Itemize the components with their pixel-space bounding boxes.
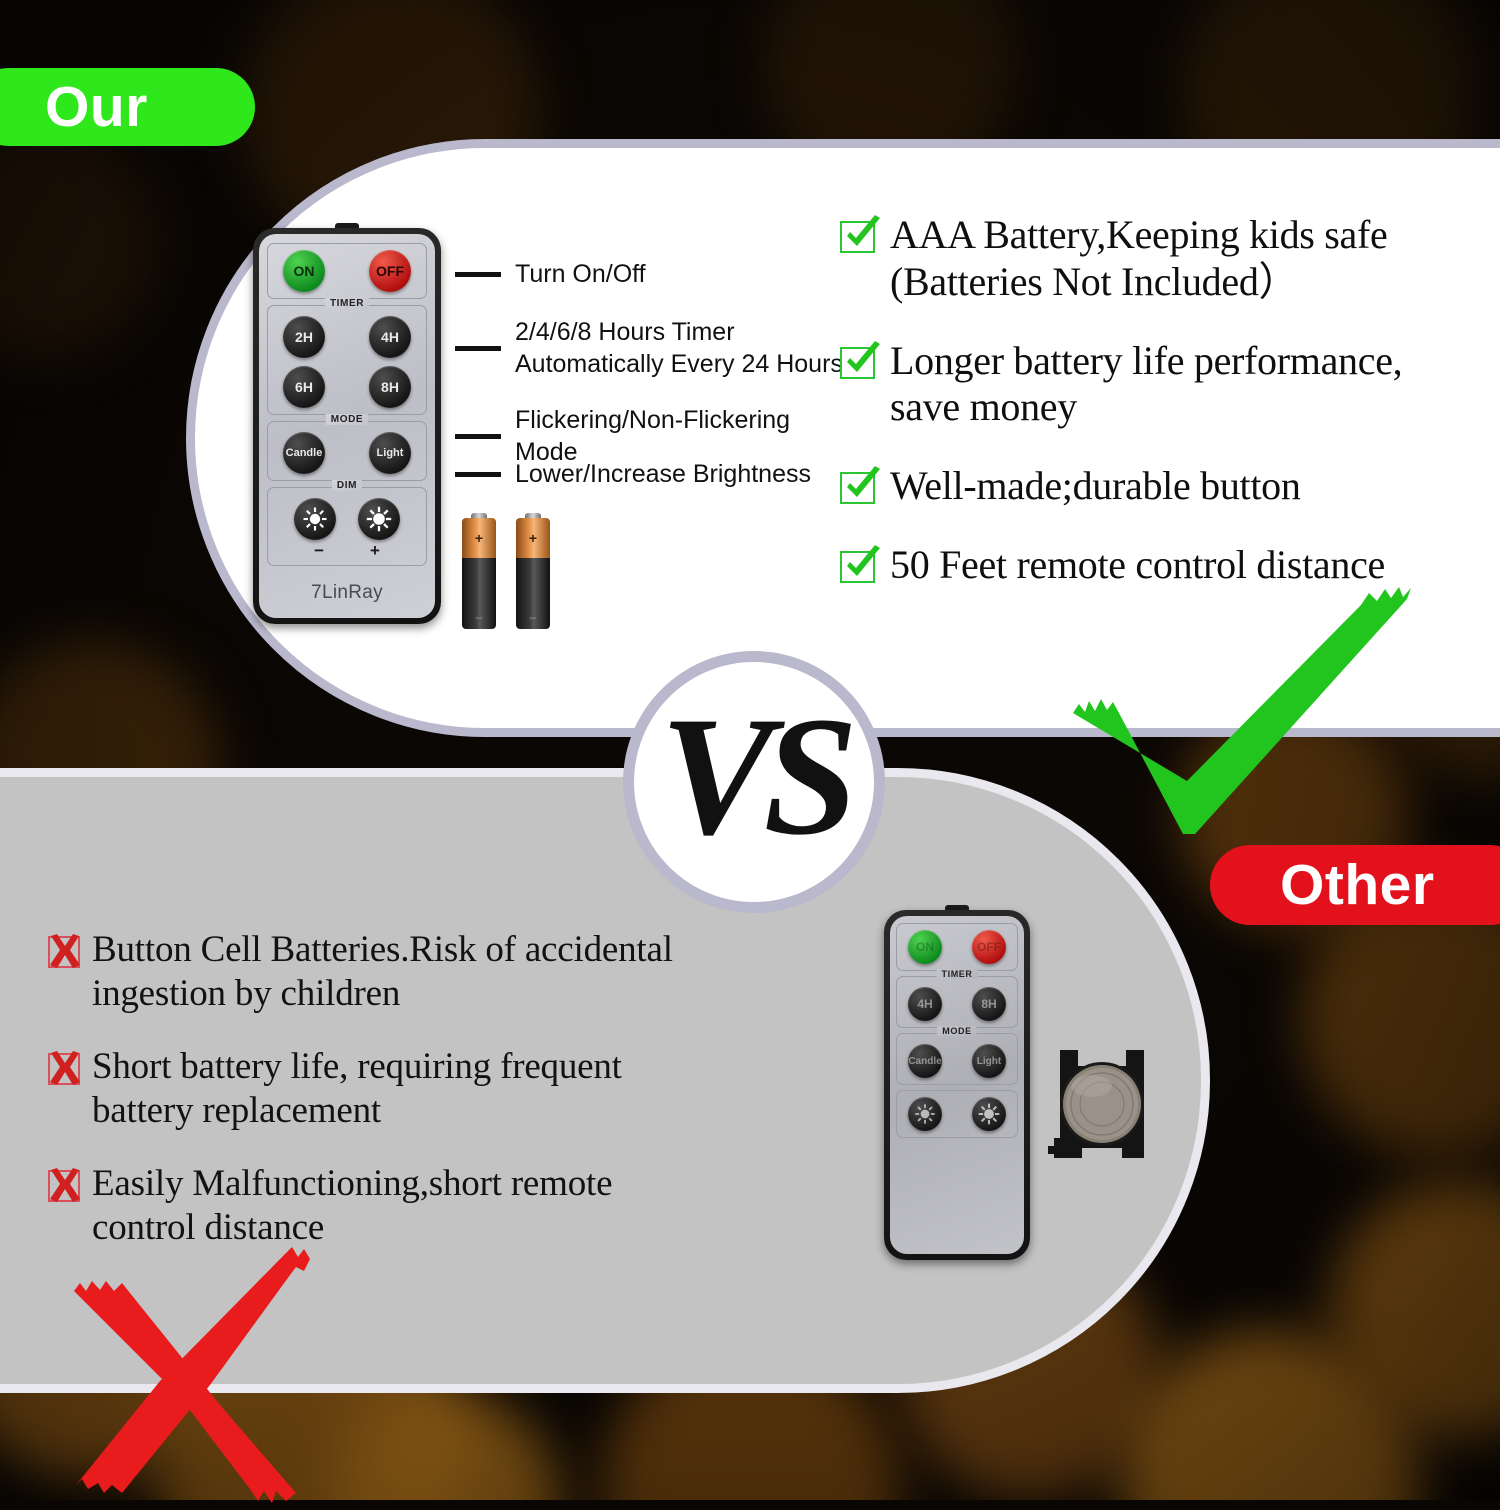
our-remote-control: ON OFF TIMER 2H 4H 6H 8H MODE Candle Lig… <box>253 228 441 624</box>
aaa-battery: + – <box>462 513 496 629</box>
remote-faceplate: ON OFF TIMER 2H 4H 6H 8H MODE Candle Lig… <box>259 234 435 618</box>
off-label: OFF <box>376 263 404 279</box>
con-text: Short battery life, requiring frequent b… <box>92 1045 622 1134</box>
callout-power: Turn On/Off <box>455 258 646 290</box>
candle-mode-button[interactable]: Candle <box>283 432 325 474</box>
timer-8h-button[interactable]: 8H <box>369 366 411 408</box>
leader-line <box>455 272 501 277</box>
remote-brand-label <box>896 1242 1018 1248</box>
light-label: Light <box>977 1056 1001 1067</box>
timer-2h-button[interactable]: 2H <box>283 316 325 358</box>
callout-timer-text: 2/4/6/8 Hours Timer Automatically Every … <box>515 316 843 380</box>
off-label: OFF <box>977 940 1001 954</box>
pro-item: AAA Battery,Keeping kids safe (Batteries… <box>840 212 1500 306</box>
on-label: ON <box>294 263 315 279</box>
on-button[interactable]: ON <box>283 250 325 292</box>
dim-down-button[interactable] <box>908 1097 942 1131</box>
brightness-icon <box>302 506 328 532</box>
cross-icon <box>48 1053 80 1085</box>
checkmark-icon <box>840 548 878 586</box>
pro-item: Longer battery life performance, save mo… <box>840 338 1500 432</box>
timer-4h-label: 4H <box>381 329 399 345</box>
battery-plus-sign: + <box>529 530 537 546</box>
timer-4h-button[interactable]: 4H <box>369 316 411 358</box>
dim-button-group <box>896 1090 1018 1138</box>
callout-dim-text: Lower/Increase Brightness <box>515 458 811 490</box>
timer-8h-label: 8H <box>981 997 996 1011</box>
pro-item: 50 Feet remote control distance <box>840 542 1500 589</box>
callout-power-text: Turn On/Off <box>515 258 646 290</box>
candle-label: Candle <box>286 447 323 459</box>
remote-brand-label: 7LinRay <box>267 582 427 610</box>
dim-up-button[interactable] <box>358 498 400 540</box>
pro-text: AAA Battery,Keeping kids safe (Batteries… <box>890 212 1387 306</box>
big-red-cross <box>60 1245 360 1510</box>
other-remote-control: ON OFF TIMER 4H 8H MODE Candle Light <box>884 910 1030 1260</box>
pro-text: Longer battery life performance, save mo… <box>890 338 1402 432</box>
brightness-icon <box>914 1103 936 1125</box>
dim-down-button[interactable] <box>294 498 336 540</box>
con-item: Short battery life, requiring frequent b… <box>48 1045 808 1134</box>
candle-mode-button[interactable]: Candle <box>908 1044 942 1078</box>
light-label: Light <box>377 447 404 459</box>
mode-group-label: MODE <box>937 1026 976 1036</box>
dim-minus-sign: − <box>314 542 324 559</box>
dim-plus-sign: + <box>370 542 380 559</box>
big-green-checkmark <box>1055 585 1445 850</box>
dim-buttons-row <box>294 498 400 540</box>
other-badge: Other <box>1210 845 1500 925</box>
con-text: Button Cell Batteries.Risk of accidental… <box>92 928 673 1017</box>
battery-negative-end: – <box>462 558 496 629</box>
con-text: Easily Malfunctioning,short remote contr… <box>92 1162 612 1251</box>
timer-6h-label: 6H <box>295 379 313 395</box>
battery-negative-end: – <box>516 558 550 629</box>
dim-signs-row: − + <box>314 542 380 559</box>
pro-text: Well-made;durable button <box>890 463 1301 510</box>
con-item: Easily Malfunctioning,short remote contr… <box>48 1162 808 1251</box>
timer-8h-button[interactable]: 8H <box>972 987 1006 1021</box>
power-button-group: ON OFF <box>896 923 1018 971</box>
checkmark-icon <box>840 344 878 382</box>
on-button[interactable]: ON <box>908 930 942 964</box>
cross-icon <box>48 936 80 968</box>
aaa-battery: + – <box>516 513 550 629</box>
timer-4h-label: 4H <box>917 997 932 1011</box>
light-mode-button[interactable]: Light <box>972 1044 1006 1078</box>
timer-group-label: TIMER <box>325 298 369 309</box>
checkmark-icon <box>840 218 878 256</box>
dim-up-button[interactable] <box>972 1097 1006 1131</box>
other-badge-label: Other <box>1280 852 1435 918</box>
our-badge-label: Our <box>45 74 148 140</box>
pros-list: AAA Battery,Keeping kids safe (Batteries… <box>840 212 1500 589</box>
pro-text: 50 Feet remote control distance <box>890 542 1385 589</box>
candle-label: Candle <box>908 1056 941 1067</box>
pro-item: Well-made;durable button <box>840 463 1500 510</box>
battery-minus-sign: – <box>530 610 537 624</box>
cons-list: Button Cell Batteries.Risk of accidental… <box>48 928 808 1250</box>
leader-line <box>455 434 501 439</box>
mode-button-group: MODE Candle Light <box>896 1033 1018 1085</box>
battery-plus-sign: + <box>475 530 483 546</box>
power-button-group: ON OFF <box>267 243 427 299</box>
timer-button-group: TIMER 4H 8H <box>896 976 1018 1028</box>
cross-icon <box>48 1170 80 1202</box>
light-mode-button[interactable]: Light <box>369 432 411 474</box>
aaa-batteries: + – + – <box>462 513 550 629</box>
vs-badge: VS <box>623 651 885 913</box>
callout-dim: Lower/Increase Brightness <box>455 458 811 490</box>
on-label: ON <box>916 940 934 954</box>
mode-button-group: MODE Candle Light <box>267 421 427 481</box>
our-badge: Our <box>0 68 255 146</box>
dim-group-label: DIM <box>332 480 362 491</box>
con-item: Button Cell Batteries.Risk of accidental… <box>48 928 808 1017</box>
remote-body: ON OFF TIMER 2H 4H 6H 8H MODE Candle Lig… <box>253 228 441 624</box>
mode-group-label: MODE <box>326 414 368 425</box>
remote-body: ON OFF TIMER 4H 8H MODE Candle Light <box>884 910 1030 1260</box>
battery-positive-end: + <box>516 518 550 558</box>
coin-cell-battery-holder <box>1046 1042 1158 1172</box>
leader-line <box>455 346 501 351</box>
timer-button-group: TIMER 2H 4H 6H 8H <box>267 305 427 415</box>
brightness-icon <box>366 506 392 532</box>
off-button[interactable]: OFF <box>369 250 411 292</box>
timer-4h-button[interactable]: 4H <box>908 987 942 1021</box>
timer-2h-label: 2H <box>295 329 313 345</box>
brightness-icon <box>978 1103 1000 1125</box>
leader-line <box>455 472 501 477</box>
callout-timer: 2/4/6/8 Hours Timer Automatically Every … <box>455 316 843 380</box>
dim-button-group: DIM <box>267 487 427 566</box>
timer-6h-button[interactable]: 6H <box>283 366 325 408</box>
vs-label: VS <box>660 691 848 861</box>
timer-group-label: TIMER <box>937 969 978 979</box>
remote-faceplate: ON OFF TIMER 4H 8H MODE Candle Light <box>890 916 1024 1254</box>
timer-8h-label: 8H <box>381 379 399 395</box>
off-button[interactable]: OFF <box>972 930 1006 964</box>
checkmark-icon <box>840 469 878 507</box>
battery-minus-sign: – <box>476 610 483 624</box>
battery-positive-end: + <box>462 518 496 558</box>
